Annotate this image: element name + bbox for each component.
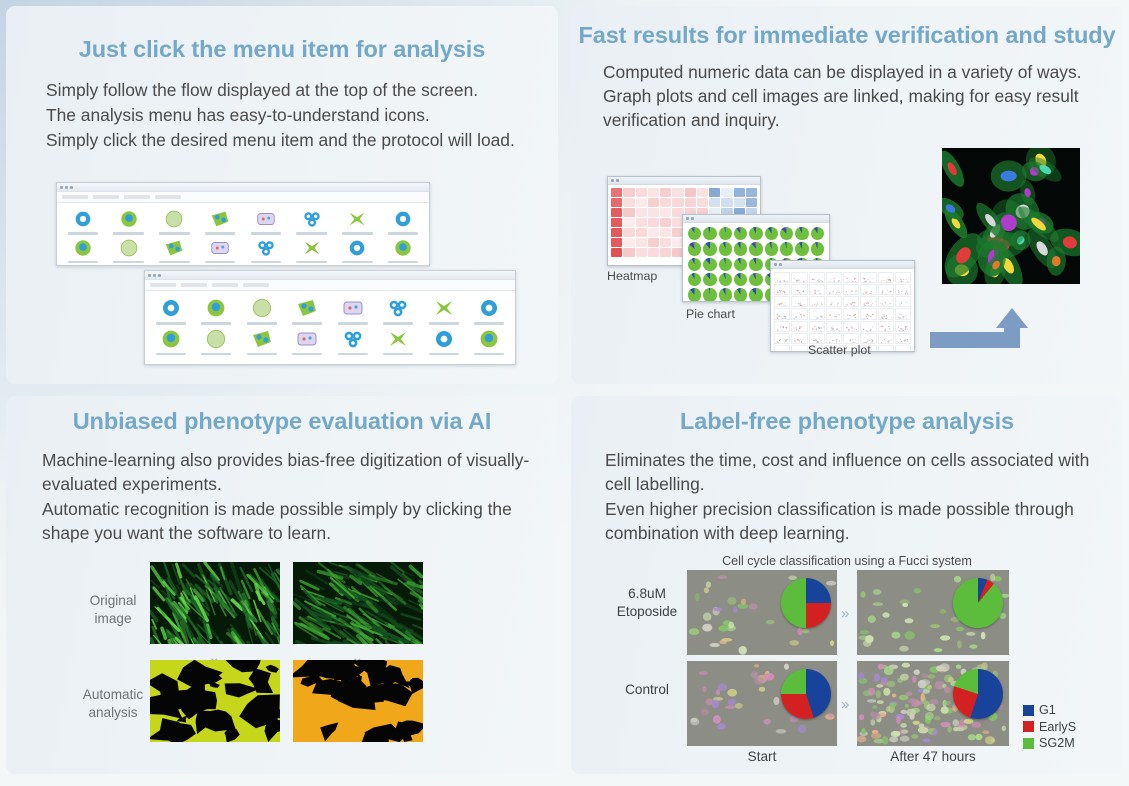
panel-graphs-title: Fast results for immediate verification … (571, 6, 1123, 50)
menu-item-icon[interactable] (149, 296, 193, 325)
menu-item-label (113, 232, 144, 235)
legend-swatch (1023, 721, 1034, 732)
scatter-cell (860, 284, 876, 295)
heatmap-cell (648, 238, 659, 247)
menu-item-label (383, 322, 413, 325)
scatter-cell (878, 345, 894, 352)
heatmap-cell (697, 188, 708, 197)
legend-swatch (1023, 738, 1034, 749)
figure-title-fucci: Cell cycle classification using a Fucci … (571, 554, 1123, 568)
analysis-menu-window[interactable] (56, 182, 430, 266)
menu-item-icon[interactable] (107, 208, 151, 235)
menu-item-icon[interactable] (286, 327, 330, 356)
menu-item-icon[interactable] (422, 327, 466, 356)
menu-item-icon[interactable] (286, 296, 330, 325)
heatmap-cell (636, 228, 647, 237)
link-arrow-icon (930, 306, 1040, 348)
menu-item-label (296, 261, 327, 264)
menu-item-icon[interactable] (331, 296, 375, 325)
heatmap-cell (672, 188, 683, 197)
heatmap-cell (611, 188, 622, 197)
menu-item-label (292, 322, 322, 325)
menu-item-label (342, 232, 373, 235)
heatmap-cell (623, 248, 634, 257)
menu-item-icon[interactable] (244, 237, 288, 264)
feature-panel-grid: Just click the menu item for analysis Si… (0, 0, 1129, 786)
pie-marker (688, 288, 701, 301)
original-image-right (293, 562, 423, 644)
menu-item-icon[interactable] (198, 208, 242, 235)
scatter-cell (878, 333, 894, 344)
heatmap-cell (734, 198, 745, 207)
scatter-cell (809, 272, 825, 283)
panel-fast-results: Fast results for immediate verification … (571, 6, 1123, 384)
menu-item-icon[interactable] (240, 327, 284, 356)
heatmap-cell (623, 198, 634, 207)
scatter-cell (791, 284, 807, 295)
menu-item-icon[interactable] (290, 237, 334, 264)
analysis-icon-grid[interactable] (57, 203, 429, 266)
scatter-cell (774, 321, 790, 332)
caption-pie-chart: Pie chart (686, 307, 735, 321)
menu-item-label (205, 232, 236, 235)
pie-marker (749, 242, 762, 255)
scatter-cell (826, 284, 842, 295)
fluorescent-cell-image (942, 148, 1080, 284)
menu-item-icon[interactable] (468, 327, 512, 356)
pie-marker (703, 288, 716, 301)
caption-scatter-plot: Scatter plot (808, 343, 871, 357)
arrow-separator-icon: » (841, 696, 849, 713)
heatmap-cell (685, 188, 696, 197)
scatter-plot-grid (771, 269, 914, 352)
heatmap-cell (623, 238, 634, 247)
cell-image-control-start (687, 661, 837, 746)
pie-marker (765, 242, 778, 255)
menu-item-label (247, 353, 277, 356)
window-titlebar (57, 183, 429, 192)
pie-marker (719, 258, 732, 271)
arrow-separator-icon: » (841, 605, 849, 622)
menu-item-label (388, 232, 419, 235)
row-label-automatic-analysis: Automatic analysis (62, 686, 164, 721)
menu-item-label (201, 322, 231, 325)
menu-item-label (338, 353, 368, 356)
heatmap-cell (623, 208, 634, 217)
original-image-left (150, 562, 280, 644)
heatmap-cell (623, 218, 634, 227)
menu-item-label (292, 353, 322, 356)
legend-item: G1 (1023, 702, 1076, 719)
window-menubar[interactable] (57, 192, 429, 203)
scatter-cell (791, 296, 807, 307)
heatmap-cell (746, 188, 757, 197)
menu-item-icon[interactable] (336, 237, 380, 264)
menu-item-label (251, 232, 282, 235)
scatter-cell (774, 284, 790, 295)
menu-item-icon[interactable] (153, 237, 197, 264)
menu-item-label (342, 261, 373, 264)
row-label-control: Control (595, 681, 699, 699)
scatter-cell (878, 284, 894, 295)
protocol-icon-grid[interactable] (145, 291, 515, 360)
pie-marker (795, 242, 808, 255)
menu-item-label (156, 322, 186, 325)
menu-item-label (251, 261, 282, 264)
pie-marker (688, 227, 701, 240)
heatmap-cell (611, 248, 622, 257)
heatmap-cell (672, 198, 683, 207)
menu-item-label (383, 353, 413, 356)
panel-labelfree-title: Label-free phenotype analysis (571, 396, 1123, 436)
scatter-cell (826, 321, 842, 332)
pie-marker (734, 258, 747, 271)
scatter-cell (895, 296, 911, 307)
heatmap-cell (709, 198, 720, 207)
scatter-cell (774, 272, 790, 283)
heatmap-cell (685, 198, 696, 207)
scatter-cell (809, 308, 825, 319)
heatmap-cell (636, 188, 647, 197)
menu-item-icon[interactable] (61, 208, 105, 235)
heatmap-cell (611, 208, 622, 217)
scatter-cell (809, 296, 825, 307)
menu-item-icon[interactable] (422, 296, 466, 325)
scatter-cell (878, 321, 894, 332)
pie-marker (688, 242, 701, 255)
heatmap-cell (623, 188, 634, 197)
panel-unbiased-phenotype-ai: Unbiased phenotype evaluation via AI Mac… (6, 396, 558, 774)
pie-marker (811, 227, 824, 240)
scatter-plot-window[interactable] (770, 260, 915, 352)
heatmap-cell (611, 198, 622, 207)
scatter-cell (860, 308, 876, 319)
heatmap-cell (636, 248, 647, 257)
row-label-original-image: Original image (66, 592, 160, 627)
legend-label: SG2M (1039, 735, 1075, 752)
menu-item-icon[interactable] (240, 296, 284, 325)
menu-item-label (247, 322, 277, 325)
menu-item-icon[interactable] (195, 296, 239, 325)
window-titlebar (771, 261, 914, 269)
legend-item: EarlyS (1023, 719, 1076, 736)
protocol-menu-window[interactable] (144, 270, 516, 365)
caption-heatmap: Heatmap (607, 269, 657, 283)
scatter-cell (895, 272, 911, 283)
scatter-cell (843, 284, 859, 295)
menu-item-icon[interactable] (153, 208, 197, 235)
pie-marker (703, 242, 716, 255)
legend-swatch (1023, 705, 1034, 716)
heatmap-cell (721, 188, 732, 197)
menu-item-label (338, 322, 368, 325)
pie-marker (795, 227, 808, 240)
heatmap-cell (611, 238, 622, 247)
pie-marker (734, 242, 747, 255)
legend-item: SG2M (1023, 735, 1076, 752)
menu-item-icon[interactable] (468, 296, 512, 325)
scatter-cell (774, 333, 790, 344)
menu-item-label (205, 261, 236, 264)
scatter-cell (791, 272, 807, 283)
heatmap-cell (660, 248, 671, 257)
window-titlebar (145, 271, 515, 280)
pie-marker (719, 273, 732, 286)
menu-item-label (156, 353, 186, 356)
menu-item-label (388, 261, 419, 264)
heatmap-cell (721, 198, 732, 207)
menu-item-label (201, 353, 231, 356)
heatmap-cell (660, 208, 671, 217)
pie-marker (688, 258, 701, 271)
pie-marker (749, 227, 762, 240)
scatter-cell (809, 284, 825, 295)
menu-item-icon[interactable] (381, 237, 425, 264)
heatmap-cell (648, 208, 659, 217)
analysis-image-right (293, 660, 423, 742)
scatter-cell (826, 308, 842, 319)
heatmap-cell (709, 188, 720, 197)
pie-marker (811, 242, 824, 255)
scatter-cell (843, 272, 859, 283)
menu-item-label (68, 261, 99, 264)
menu-item-icon[interactable] (377, 296, 421, 325)
menu-item-icon[interactable] (331, 327, 375, 356)
scatter-cell (895, 308, 911, 319)
pie-marker (734, 273, 747, 286)
pie-marker (734, 288, 747, 301)
heatmap-cell (623, 228, 634, 237)
scatter-cell (895, 321, 911, 332)
heatmap-cell (636, 238, 647, 247)
pie-marker (749, 258, 762, 271)
scatter-cell (774, 308, 790, 319)
heatmap-cell (648, 218, 659, 227)
heatmap-cell (648, 198, 659, 207)
menu-item-icon[interactable] (290, 208, 334, 235)
scatter-cell (843, 321, 859, 332)
panel-ai-title: Unbiased phenotype evaluation via AI (6, 396, 558, 436)
menu-item-icon[interactable] (377, 327, 421, 356)
menu-item-icon[interactable] (244, 208, 288, 235)
heatmap-cell (648, 228, 659, 237)
scatter-cell (809, 321, 825, 332)
panel-flow-body: Simply follow the flow displayed at the … (6, 64, 558, 153)
scatter-cell (860, 296, 876, 307)
panel-labelfree-body: Eliminates the time, cost and influence … (571, 436, 1123, 546)
pie-marker (734, 227, 747, 240)
menu-item-label (159, 261, 190, 264)
heatmap-cell (660, 188, 671, 197)
menu-item-icon[interactable] (149, 327, 193, 356)
menu-item-label (474, 322, 504, 325)
menu-item-icon[interactable] (381, 208, 425, 235)
menu-item-label (68, 232, 99, 235)
row-label-etoposide: 6.8uM Etoposide (595, 585, 699, 620)
scatter-cell (895, 284, 911, 295)
cell-cycle-pie-chart (781, 578, 831, 628)
window-menubar[interactable] (145, 280, 515, 291)
panel-flow-title: Just click the menu item for analysis (6, 6, 558, 64)
pie-marker (688, 273, 701, 286)
legend-label: G1 (1039, 702, 1056, 719)
window-titlebar (683, 215, 829, 223)
heatmap-cell (660, 198, 671, 207)
scatter-cell (774, 296, 790, 307)
menu-item-icon[interactable] (336, 208, 380, 235)
pie-marker (703, 273, 716, 286)
menu-item-label (113, 261, 144, 264)
panel-graphs-body: Computed numeric data can be displayed i… (571, 50, 1123, 133)
scatter-cell (843, 296, 859, 307)
scatter-cell (791, 321, 807, 332)
heatmap-cell (636, 218, 647, 227)
heatmap-cell (648, 188, 659, 197)
menu-item-label (474, 353, 504, 356)
scatter-cell (878, 308, 894, 319)
panel-click-menu-for-analysis: Just click the menu item for analysis Si… (6, 6, 558, 384)
scatter-cell (895, 333, 911, 344)
window-titlebar (608, 177, 760, 185)
pie-marker (765, 227, 778, 240)
scatter-cell (860, 272, 876, 283)
scatter-cell (878, 272, 894, 283)
cell-image-etoposide-start (687, 570, 837, 655)
heatmap-cell (648, 248, 659, 257)
pie-marker (719, 242, 732, 255)
scatter-cell (774, 345, 790, 352)
analysis-image-left (150, 660, 280, 742)
menu-item-label (296, 232, 327, 235)
cell-cycle-pie-chart (953, 578, 1003, 628)
heatmap-cell (611, 218, 622, 227)
pie-marker (719, 288, 732, 301)
heatmap-cell (611, 228, 622, 237)
menu-item-icon[interactable] (195, 327, 239, 356)
pie-marker (719, 227, 732, 240)
menu-item-label (429, 353, 459, 356)
heatmap-cell (636, 208, 647, 217)
heatmap-cell (734, 188, 745, 197)
scatter-cell (826, 296, 842, 307)
legend-label: EarlyS (1039, 719, 1076, 736)
panel-ai-body: Machine-learning also provides bias-free… (6, 436, 558, 546)
menu-item-label (429, 322, 459, 325)
scatter-cell (878, 296, 894, 307)
scatter-cell (791, 345, 807, 352)
scatter-cell (791, 333, 807, 344)
pie-marker (749, 288, 762, 301)
heatmap-cell (660, 218, 671, 227)
heatmap-cell (746, 198, 757, 207)
pie-marker (780, 242, 793, 255)
pie-marker (703, 258, 716, 271)
menu-item-icon[interactable] (61, 237, 105, 264)
pie-marker (703, 227, 716, 240)
heatmap-cell (697, 198, 708, 207)
heatmap-cell (660, 228, 671, 237)
menu-item-label (159, 232, 190, 235)
cell-image-etoposide-after (857, 570, 1009, 655)
scatter-cell (860, 321, 876, 332)
cell-image-control-after (857, 661, 1009, 746)
panel-label-free-phenotype: Label-free phenotype analysis Eliminates… (571, 396, 1123, 774)
heatmap-cell (636, 198, 647, 207)
scatter-cell (791, 308, 807, 319)
scatter-cell (826, 272, 842, 283)
column-label-after: After 47 hours (857, 748, 1009, 766)
cell-cycle-legend: G1EarlySSG2M (1023, 702, 1076, 752)
cell-cycle-pie-chart (953, 669, 1003, 719)
pie-marker (749, 273, 762, 286)
scatter-cell (843, 308, 859, 319)
menu-item-icon[interactable] (107, 237, 151, 264)
scatter-cell (895, 345, 911, 352)
menu-item-icon[interactable] (198, 237, 242, 264)
cell-cycle-pie-chart (781, 669, 831, 719)
heatmap-cell (660, 238, 671, 247)
pie-marker (780, 227, 793, 240)
column-label-start: Start (687, 748, 837, 766)
